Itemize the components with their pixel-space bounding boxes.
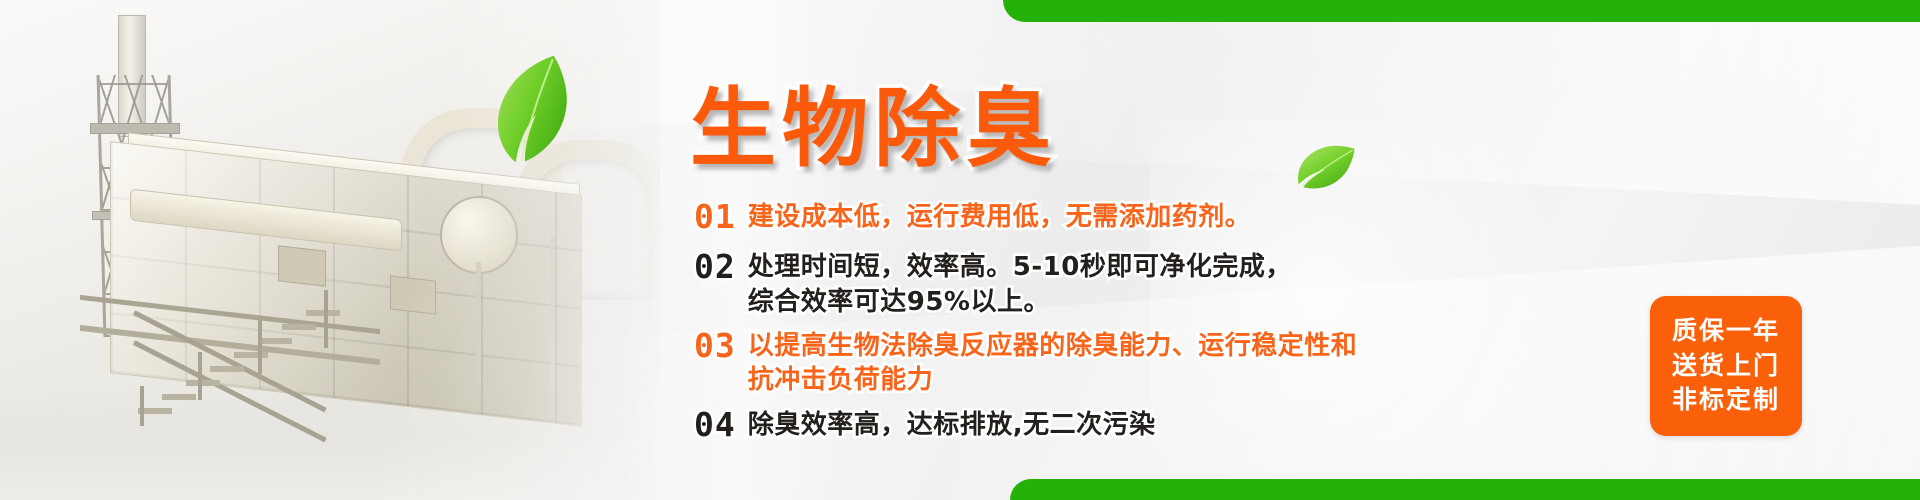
support-pole [550, 236, 555, 386]
feature-line: 建设成本低，运行费用低，无需添加药剂。 [748, 200, 1252, 234]
feature-text: 处理时间短，效率高。5-10秒即可净化完成， 综合效率可达95%以上。 [748, 250, 1292, 319]
feature-line: 抗冲击负荷能力 [748, 363, 1358, 397]
feature-number: 03 [694, 329, 736, 362]
access-hatch [390, 275, 436, 314]
access-stairs [128, 290, 358, 440]
feature-number: 02 [694, 250, 736, 283]
badge-line: 送货上门 [1672, 349, 1780, 384]
access-hatch [278, 245, 326, 286]
feature-number: 04 [694, 408, 736, 441]
banner-title: 生物除臭 [690, 58, 1058, 183]
service-guarantee-badge: 质保一年 送货上门 非标定制 [1650, 296, 1802, 436]
badge-line: 质保一年 [1672, 314, 1780, 349]
feature-text: 除臭效率高，达标排放,无二次污染 [748, 408, 1156, 442]
feature-line: 综合效率可达95%以上。 [748, 285, 1292, 319]
badge-line: 非标定制 [1672, 383, 1780, 418]
feature-line: 处理时间短，效率高。5-10秒即可净化完成， [748, 250, 1292, 284]
promo-banner: 生物除臭 01 建设成本低，运行费用低，无需添加药剂。 02 处理时间短，效率高… [0, 0, 1920, 500]
feature-item: 02 处理时间短，效率高。5-10秒即可净化完成， 综合效率可达95%以上。 [694, 250, 1694, 319]
feature-number: 01 [694, 200, 736, 233]
feature-item: 03 以提高生物法除臭反应器的除臭能力、运行稳定性和 抗冲击负荷能力 [694, 329, 1694, 398]
support-pole [476, 262, 481, 382]
feature-item: 04 除臭效率高，达标排放,无二次污染 [694, 408, 1694, 442]
feature-line: 除臭效率高，达标排放,无二次污染 [748, 408, 1156, 442]
feature-line: 以提高生物法除臭反应器的除臭能力、运行稳定性和 [748, 329, 1358, 363]
feature-list: 01 建设成本低，运行费用低，无需添加药剂。 02 处理时间短，效率高。5-10… [694, 200, 1694, 454]
feature-text: 建设成本低，运行费用低，无需添加药剂。 [748, 200, 1252, 234]
feature-item: 01 建设成本低，运行费用低，无需添加药剂。 [694, 200, 1694, 234]
feature-text: 以提高生物法除臭反应器的除臭能力、运行稳定性和 抗冲击负荷能力 [748, 329, 1358, 398]
